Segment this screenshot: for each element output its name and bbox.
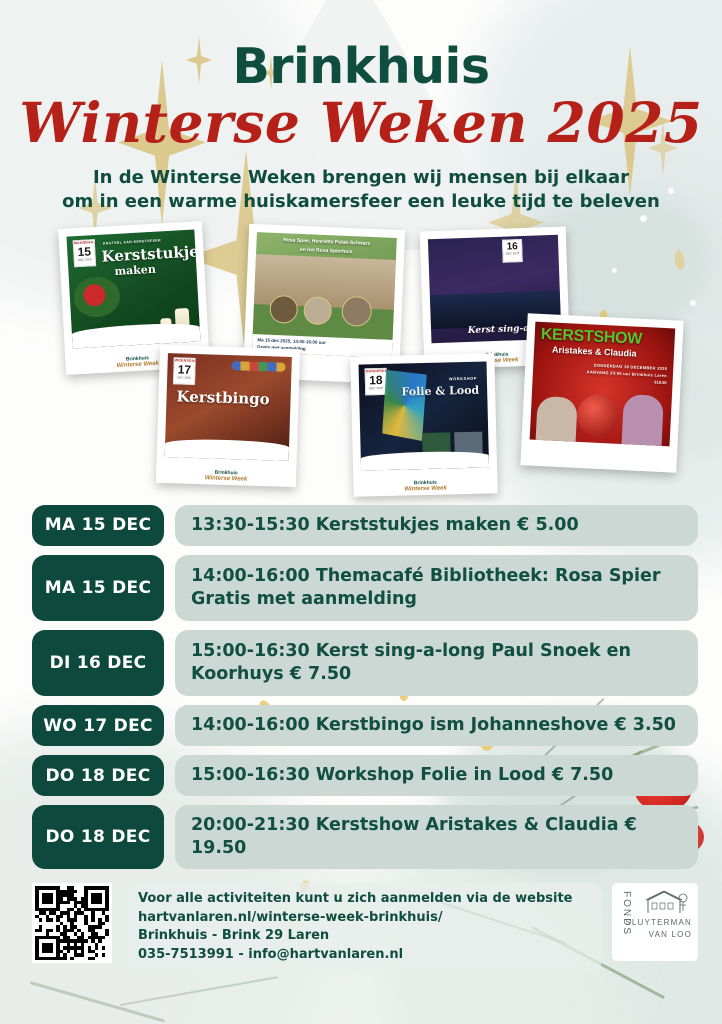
logo-name-line-2: VAN LOO [625, 929, 692, 941]
schedule-description: 15:00-16:30 Kerst sing-a-long Paul Snoek… [175, 630, 698, 696]
schedule-date-badge: WO 17 DEC [32, 705, 164, 746]
page-title: Brinkhuis [0, 42, 722, 91]
schedule-date-badge: MA 15 DEC [32, 505, 164, 546]
date-badge: MAANDAG 15 DEC 2025 [73, 239, 96, 267]
schedule-description: 20:00-21:30 Kerstshow Aristakes & Claudi… [175, 805, 698, 869]
photo-card-kerstbingo[interactable]: WOENSDAG 17 DEC 2025 Kerstbingo Brinkhui… [156, 344, 300, 486]
schedule-row[interactable]: DO 18 DEC 15:00-16:30 Workshop Folie in … [32, 755, 698, 796]
photo-card-kerstshow[interactable]: KERSTSHOW Aristakes & Claudia DONDERDAG … [520, 313, 683, 472]
script-subtitle: Winterse Weken 2025 [0, 95, 722, 150]
schedule-row[interactable]: DO 18 DEC 20:00-21:30 Kerstshow Aristake… [32, 805, 698, 869]
card-kicker: WORKSHOP [449, 375, 477, 381]
card-brand: Brinkhuis Winterse Week [353, 478, 497, 494]
schedule-description: 14:00-16:00 Kerstbingo ism Johanneshove … [175, 705, 698, 746]
contact-website-link[interactable]: hartvanlaren.nl/winterse-week-brinkhuis/ [138, 909, 588, 927]
schedule-row[interactable]: DI 16 DEC 15:00-16:30 Kerst sing-a-long … [32, 630, 698, 696]
performer-left [536, 395, 578, 441]
card-subtitle: maken [114, 262, 156, 277]
schedule-row[interactable]: MA 15 DEC 13:30-15:30 Kerststukjes maken… [32, 505, 698, 546]
contact-phone-email[interactable]: 035-7513991 - info@hartvanlaren.nl [138, 946, 588, 964]
stained-glass-photo [381, 369, 429, 442]
date-badge: DONDERDAG 18 DEC 2025 [365, 367, 388, 395]
tagline: In de Winterse Weken brengen wij mensen … [0, 166, 722, 215]
tagline-line-1: In de Winterse Weken brengen wij mensen … [0, 166, 722, 190]
schedule-date-badge: DO 18 DEC [32, 805, 164, 869]
schedule-date-badge: DI 16 DEC [32, 630, 164, 696]
schedule-description: 15:00-16:30 Workshop Folie in Lood € 7.5… [175, 755, 698, 796]
card-title: Kerststukje [101, 242, 199, 265]
schedule-row[interactable]: WO 17 DEC 14:00-16:00 Kerstbingo ism Joh… [32, 705, 698, 746]
poster: Brinkhuis Winterse Weken 2025 In de Wint… [0, 0, 722, 1024]
contact-info: Voor alle activiteiten kunt u zich aanme… [124, 883, 602, 971]
date-badge: WOENSDAG 17 DEC 2025 [173, 357, 196, 385]
contact-line-1: Voor alle activiteiten kunt u zich aanme… [138, 890, 588, 908]
card-brand: Brinkhuis Winterse Week [156, 467, 296, 483]
bauble-decoration [576, 393, 620, 437]
tagline-line-2: om in een warme huiskamersfeer een leuke… [0, 190, 722, 214]
card-info-line-3: €19.50 [654, 379, 666, 385]
date-badge: 16 DEC 2025 [502, 239, 523, 263]
fonds-sluyterman-van-loo-logo: FONDS SLUYTERMAN VAN LOO [612, 883, 698, 961]
photo-card-folie-lood[interactable]: DONDERDAG 18 DEC 2025 Folie & Lood WORKS… [350, 353, 497, 496]
bingo-balls-decoration [231, 361, 285, 372]
schedule-row[interactable]: MA 15 DEC 14:00-16:00 Themacafé Biblioth… [32, 555, 698, 621]
contact-address: Brinkhuis - Brink 29 Laren [138, 927, 588, 945]
card-footer-wave [361, 450, 489, 470]
logo-name-line-1: SLUYTERMAN [625, 917, 692, 929]
house-icon [644, 889, 688, 915]
card-title: Folie & Lood [401, 383, 479, 398]
photo-collage: MAANDAG 15 DEC 2025 KNUTSEL AAN KERSTSFE… [0, 221, 722, 491]
logo-name: SLUYTERMAN VAN LOO [625, 917, 692, 941]
card-title: Kerstbingo [176, 387, 270, 408]
poinsettia-decoration [73, 275, 121, 318]
performer-right [622, 394, 664, 446]
schedule-description: 14:00-16:00 Themacafé Bibliotheek: Rosa … [175, 555, 698, 621]
poster-header: Brinkhuis Winterse Weken 2025 In de Wint… [0, 0, 722, 215]
card-footer-wave [165, 438, 290, 461]
schedule-description: 13:30-15:30 Kerststukjes maken € 5.00 [175, 505, 698, 546]
qr-code[interactable] [32, 883, 112, 963]
card-footer-wave [72, 321, 201, 348]
schedule-list: MA 15 DEC 13:30-15:30 Kerststukjes maken… [32, 505, 698, 870]
schedule-date-badge: MA 15 DEC [32, 555, 164, 621]
poster-footer: Voor alle activiteiten kunt u zich aanme… [32, 883, 698, 971]
schedule-date-badge: DO 18 DEC [32, 755, 164, 796]
